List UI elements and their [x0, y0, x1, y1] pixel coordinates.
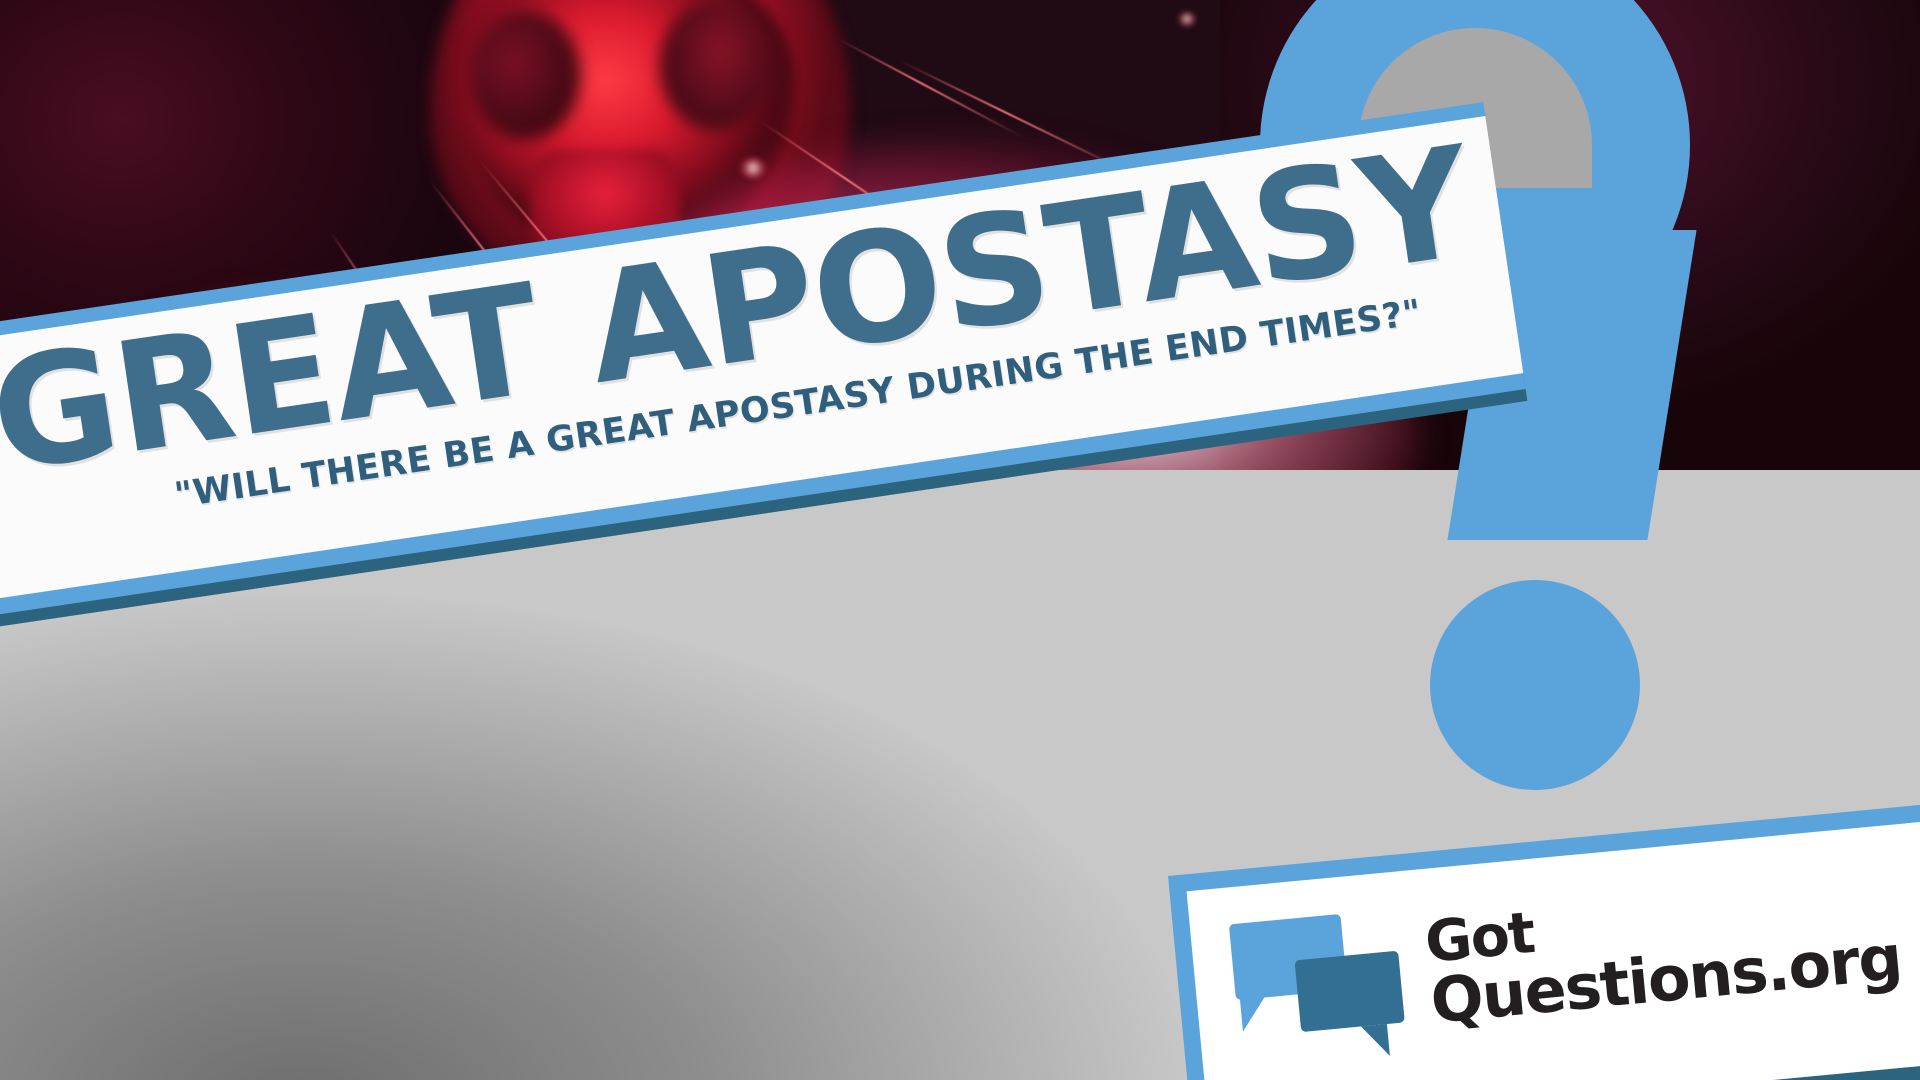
gas-mask-eye-left — [470, 10, 580, 140]
light-hotspot-1 — [740, 158, 766, 178]
speech-bubble-back-tail-icon — [1240, 995, 1269, 1031]
speech-bubble-front-tail-icon — [1361, 1024, 1390, 1058]
poster-canvas: GREAT APOSTASY "WILL THERE BE A GREAT AP… — [0, 0, 1920, 1080]
gas-mask-eye-right — [660, 0, 770, 130]
question-mark-dot — [1430, 580, 1640, 790]
light-streak-1 — [838, 38, 1024, 138]
speech-bubbles-icon — [1229, 907, 1409, 1062]
speech-bubble-front-icon — [1295, 951, 1405, 1032]
light-hotspot-3 — [1178, 12, 1196, 26]
